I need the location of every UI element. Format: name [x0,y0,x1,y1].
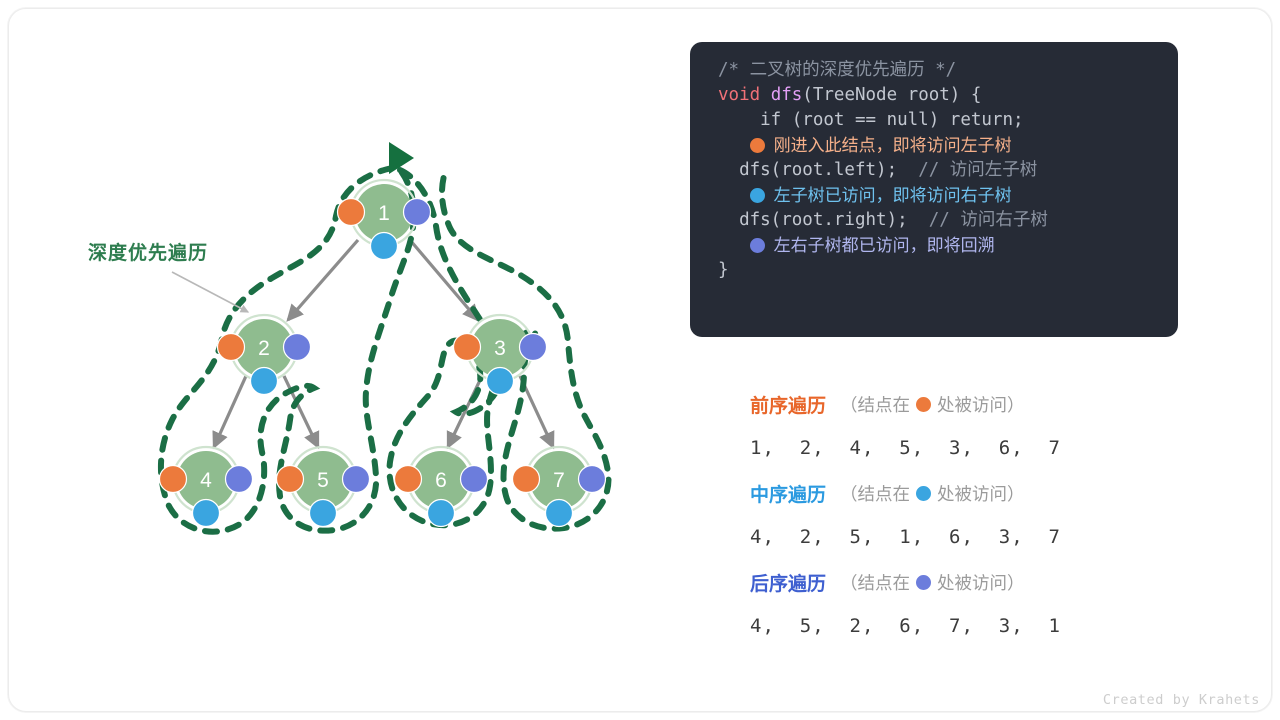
marker-inorder-dot [371,233,398,260]
code-snippet-panel: /* 二叉树的深度优先遍历 */void dfs(TreeNode root) … [690,42,1178,337]
marker-postorder-dot [343,466,370,493]
marker-preorder-dot [513,466,540,493]
marker-inorder-dot [310,500,337,527]
code-segment-0: if (root == null) return; [718,108,1024,133]
note-indent [718,133,750,158]
annotation-suffix: 处被访问） [937,392,1025,417]
node-value-label: 2 [258,337,270,360]
annotation-prefix: （结点在 [840,570,910,595]
note-blue-dot-icon [750,188,765,203]
code-segment-0: /* 二叉树的深度优先遍历 */ [718,58,956,83]
marker-inorder-dot [193,500,220,527]
result-heading-inorder: 中序遍历（结点在处被访问） [750,473,1170,513]
code-line-null-check: if (root == null) return; [690,108,1178,133]
result-group-inorder: 中序遍历（结点在处被访问）4, 2, 5, 1, 6, 3, 7 [750,473,1170,561]
callout-line [172,272,248,312]
result-heading-postorder: 后序遍历（结点在处被访问） [750,562,1170,602]
marker-preorder-dot [395,466,422,493]
code-segment-0: } [718,258,729,283]
note-indent [718,183,750,208]
marker-inorder-dot [428,500,455,527]
result-group-preorder: 前序遍历（结点在处被访问）1, 2, 4, 5, 3, 6, 7 [750,384,1170,472]
node-value-label: 5 [317,469,329,492]
dfs-callout-label: 深度优先遍历 [88,238,208,265]
result-heading-preorder: 前序遍历（结点在处被访问） [750,384,1170,424]
code-segment-1: // 访问右子树 [929,208,1048,233]
node-value-label: 4 [200,469,212,492]
result-title: 中序遍历 [750,480,826,507]
marker-preorder-dot [454,334,481,361]
result-annotation: （结点在处被访问） [840,570,1025,595]
marker-postorder-dot [520,334,547,361]
code-line-call-left: dfs(root.left); // 访问左子树 [690,158,1178,183]
code-segment-0: dfs(root.right); [718,208,929,233]
code-line-note-pre: 刚进入此结点，即将访问左子树 [690,133,1178,158]
code-line-signature: void dfs(TreeNode root) { [690,83,1178,108]
traversal-results: 前序遍历（结点在处被访问）1, 2, 4, 5, 3, 6, 7中序遍历（结点在… [750,384,1170,651]
marker-postorder-dot [579,466,606,493]
binary-tree-diagram: 1234567 深度优先遍历 [0,0,680,720]
note-orange-dot-icon [750,138,765,153]
code-segment-0: dfs(root.left); [718,158,918,183]
note-indent [718,233,750,258]
marker-preorder-dot [218,334,245,361]
node-value-label: 1 [378,202,390,225]
annotation-prefix: （结点在 [840,481,910,506]
annotation-blue-dot-icon [916,486,931,501]
marker-preorder-dot [338,199,365,226]
tree-node-2[interactable]: 2 [218,315,311,395]
edge-2-4 [214,376,246,447]
credit-text: Created by Krahets [1103,692,1260,708]
node-value-label: 6 [435,469,447,492]
result-sequence-postorder: 4, 5, 2, 6, 7, 3, 1 [750,602,1170,650]
code-line-close: } [690,258,1178,283]
note-text: 左右子树都已访问，即将回溯 [774,233,995,258]
marker-postorder-dot [404,199,431,226]
code-line-note-in: 左子树已访问，即将访问右子树 [690,183,1178,208]
tree-svg: 1234567 [0,0,680,720]
note-text: 刚进入此结点，即将访问左子树 [774,133,1012,158]
marker-postorder-dot [284,334,311,361]
marker-inorder-dot [546,500,573,527]
result-title: 后序遍历 [750,569,826,596]
code-segment-2: (TreeNode root) { [802,83,981,108]
code-line-note-post: 左右子树都已访问，即将回溯 [690,233,1178,258]
marker-preorder-dot [277,466,304,493]
result-annotation: （结点在处被访问） [840,392,1025,417]
marker-preorder-dot [160,466,187,493]
note-text: 左子树已访问，即将访问右子树 [774,183,1012,208]
annotation-suffix: 处被访问） [937,570,1025,595]
marker-postorder-dot [461,466,488,493]
annotation-prefix: （结点在 [840,392,910,417]
code-line-comment: /* 二叉树的深度优先遍历 */ [690,58,1178,83]
tree-node-3[interactable]: 3 [454,315,547,395]
note-purple-dot-icon [750,238,765,253]
annotation-orange-dot-icon [916,397,931,412]
edge-1-2 [288,240,358,320]
tree-node-6[interactable]: 6 [395,447,488,527]
result-group-postorder: 后序遍历（结点在处被访问）4, 5, 2, 6, 7, 3, 1 [750,562,1170,650]
node-value-label: 7 [553,469,565,492]
result-sequence-inorder: 4, 2, 5, 1, 6, 3, 7 [750,513,1170,561]
annotation-purple-dot-icon [916,575,931,590]
tree-node-7[interactable]: 7 [513,447,606,527]
result-sequence-preorder: 1, 2, 4, 5, 3, 6, 7 [750,424,1170,472]
code-segment-1: dfs [771,83,803,108]
annotation-suffix: 处被访问） [937,481,1025,506]
code-line-call-right: dfs(root.right); // 访问右子树 [690,208,1178,233]
code-segment-1: // 访问左子树 [918,158,1037,183]
marker-inorder-dot [487,368,514,395]
tree-nodes: 1234567 [160,180,606,527]
marker-inorder-dot [251,368,278,395]
result-annotation: （结点在处被访问） [840,481,1025,506]
marker-postorder-dot [226,466,253,493]
illustration-canvas: 1234567 深度优先遍历 /* 二叉树的深度优先遍历 */void dfs(… [0,0,1280,720]
node-value-label: 3 [494,337,506,360]
code-segment-0: void [718,83,771,108]
result-title: 前序遍历 [750,391,826,418]
